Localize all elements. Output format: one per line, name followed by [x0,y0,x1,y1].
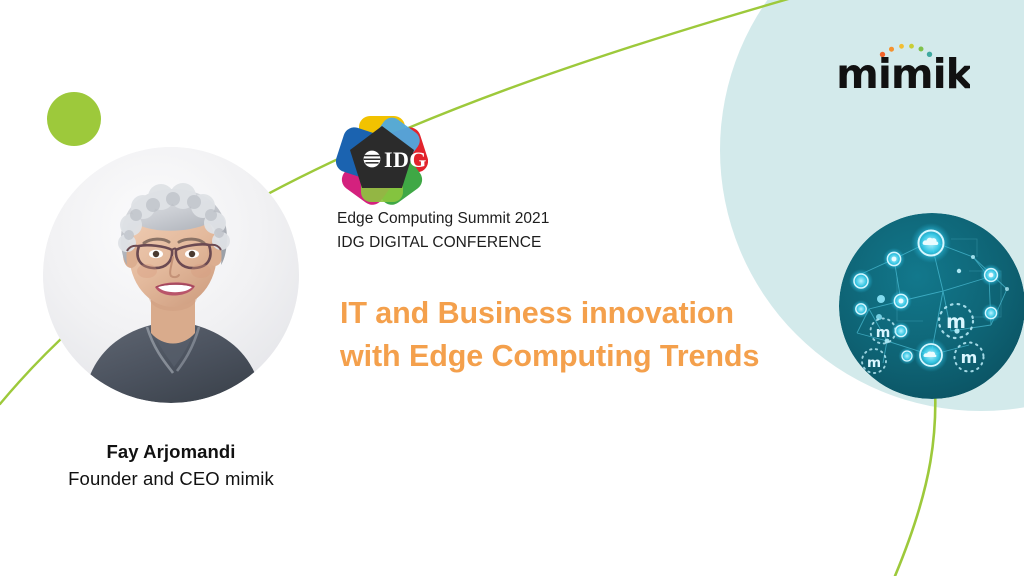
idg-logo: IDG [336,114,428,206]
edge-network-illustration: m m m m [839,213,1024,399]
idg-wordmark: IDG [384,147,427,172]
network-m-badge-label: m [876,325,891,341]
mimik-wordmark: mimik [838,50,970,96]
mimik-logo: mimik [838,36,970,96]
idg-globe-icon [364,151,381,168]
page-title: IT and Business innovation with Edge Com… [340,292,900,379]
page-title-line-1: IT and Business innovation [340,292,900,335]
network-m-badge-label: m [961,348,978,367]
event-subtitle: IDG DIGITAL CONFERENCE [337,231,757,255]
speaker-role: Founder and CEO mimik [0,467,342,492]
page-title-line-2: with Edge Computing Trends [340,335,900,378]
network-m-badge-label: m [867,355,881,371]
speaker-name: Fay Arjomandi [0,440,342,465]
event-title: Edge Computing Summit 2021 [337,207,757,231]
event-info: Edge Computing Summit 2021 IDG DIGITAL C… [337,207,757,254]
network-m-badge-label: m [946,311,966,333]
green-dot [47,92,101,146]
speaker-info: Fay Arjomandi Founder and CEO mimik [0,440,342,492]
speaker-portrait [43,147,299,403]
presentation-slide: Fay Arjomandi Founder and CEO mimik [0,0,1024,576]
